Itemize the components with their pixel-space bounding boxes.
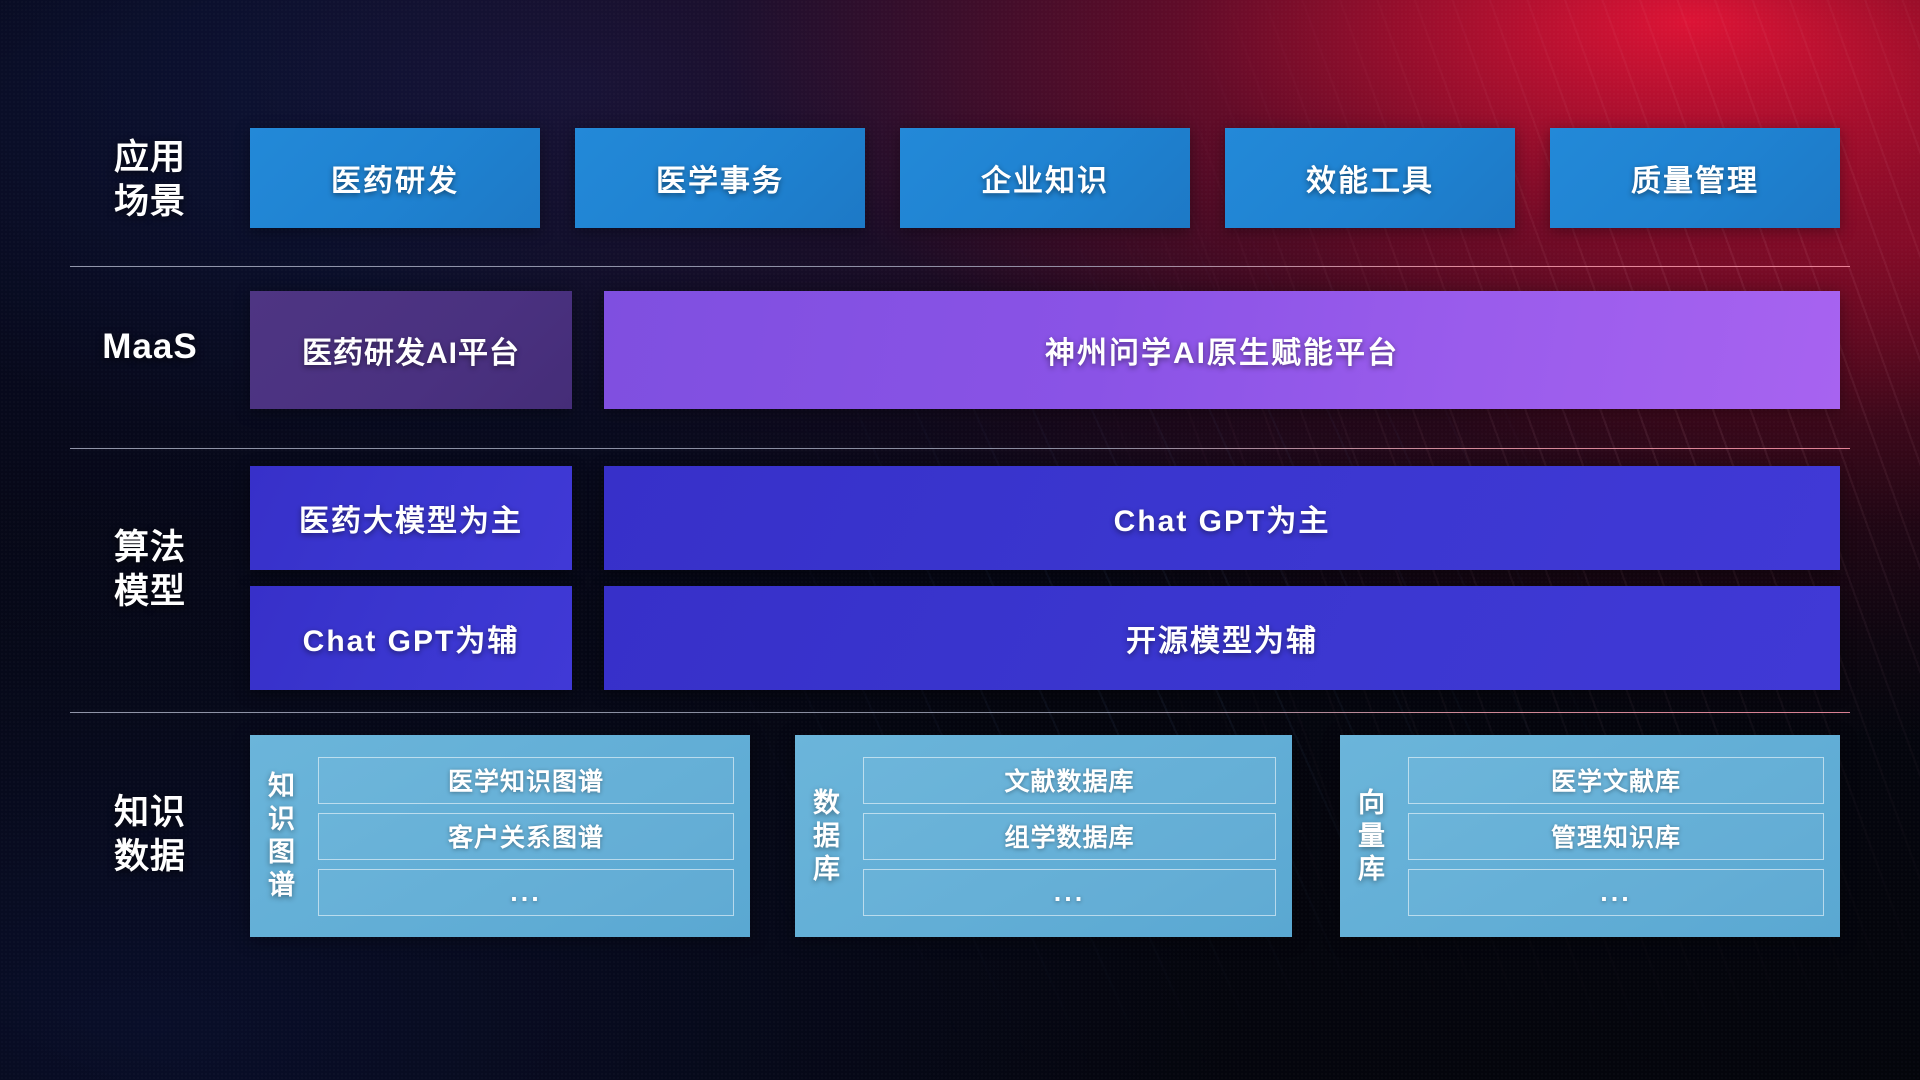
maas-platform-box-right[interactable]: 神州问学AI原生赋能平台 bbox=[604, 291, 1840, 409]
row-label-application-scenarios: 应用 场景 bbox=[90, 136, 210, 224]
app-box-1-label: 医药研发 bbox=[331, 156, 459, 200]
knowledge-panel-vector-title: 向量库 bbox=[1340, 735, 1404, 937]
algorithm-secondary-right-label: 开源模型为辅 bbox=[1126, 616, 1318, 660]
row-label-knowledge-data: 知识 数据 bbox=[90, 791, 210, 879]
app-box-2[interactable]: 医学事务 bbox=[575, 128, 865, 228]
app-box-4[interactable]: 效能工具 bbox=[1225, 128, 1515, 228]
algorithm-primary-left-label: 医药大模型为主 bbox=[299, 496, 523, 540]
divider-1 bbox=[70, 266, 1850, 267]
architecture-diagram: 应用 场景 医药研发 医学事务 企业知识 效能工具 质量管理 MaaS 医药研发… bbox=[0, 0, 1920, 1080]
algorithm-secondary-right-box[interactable]: 开源模型为辅 bbox=[604, 586, 1840, 690]
knowledge-panel-graph-items: 医学知识图谱 客户关系图谱 ... bbox=[314, 735, 750, 937]
row-label-line-1: 知识 bbox=[90, 791, 210, 835]
row-label-line-2: 模型 bbox=[90, 570, 210, 614]
knowledge-panel-graph[interactable]: 知识图谱 医学知识图谱 客户关系图谱 ... bbox=[250, 735, 750, 937]
knowledge-item-vector-3[interactable]: ... bbox=[1408, 869, 1824, 916]
knowledge-panel-database-title: 数据库 bbox=[795, 735, 859, 937]
algorithm-primary-left-box[interactable]: 医药大模型为主 bbox=[250, 466, 572, 570]
row-algorithm-model: 算法 模型 医药大模型为主 Chat GPT为主 Chat GPT为辅 开源模型… bbox=[0, 466, 1920, 690]
app-box-3-label: 企业知识 bbox=[981, 156, 1109, 200]
knowledge-item-database-2[interactable]: 组学数据库 bbox=[863, 813, 1276, 860]
row-label-algorithm-model: 算法 模型 bbox=[90, 526, 210, 614]
row-label-line-1: 应用 bbox=[90, 136, 210, 180]
row-application-scenarios: 应用 场景 医药研发 医学事务 企业知识 效能工具 质量管理 bbox=[0, 128, 1920, 228]
row-label-maas: MaaS bbox=[90, 325, 210, 369]
knowledge-item-graph-1[interactable]: 医学知识图谱 bbox=[318, 757, 734, 804]
app-box-5[interactable]: 质量管理 bbox=[1550, 128, 1840, 228]
algorithm-secondary-left-box[interactable]: Chat GPT为辅 bbox=[250, 586, 572, 690]
row-maas: MaaS 医药研发AI平台 神州问学AI原生赋能平台 bbox=[0, 291, 1920, 409]
knowledge-panel-vector[interactable]: 向量库 医学文献库 管理知识库 ... bbox=[1340, 735, 1840, 937]
app-box-2-label: 医学事务 bbox=[656, 156, 784, 200]
knowledge-item-vector-2[interactable]: 管理知识库 bbox=[1408, 813, 1824, 860]
knowledge-item-graph-3[interactable]: ... bbox=[318, 869, 734, 916]
knowledge-item-database-3[interactable]: ... bbox=[863, 869, 1276, 916]
maas-platform-box-left[interactable]: 医药研发AI平台 bbox=[250, 291, 572, 409]
app-box-4-label: 效能工具 bbox=[1306, 156, 1434, 200]
divider-2 bbox=[70, 448, 1850, 449]
row-label-line-1: 算法 bbox=[90, 526, 210, 570]
knowledge-panel-graph-title: 知识图谱 bbox=[250, 735, 314, 937]
maas-platform-left-label: 医药研发AI平台 bbox=[302, 328, 520, 372]
knowledge-panel-database[interactable]: 数据库 文献数据库 组学数据库 ... bbox=[795, 735, 1292, 937]
row-label-line-2: 数据 bbox=[90, 835, 210, 879]
row-label-maas-text: MaaS bbox=[90, 325, 210, 369]
app-box-3[interactable]: 企业知识 bbox=[900, 128, 1190, 228]
knowledge-panel-database-items: 文献数据库 组学数据库 ... bbox=[859, 735, 1292, 937]
knowledge-item-graph-2[interactable]: 客户关系图谱 bbox=[318, 813, 734, 860]
row-knowledge-data: 知识 数据 知识图谱 医学知识图谱 客户关系图谱 ... 数据库 文献数据库 组… bbox=[0, 735, 1920, 937]
divider-3 bbox=[70, 712, 1850, 713]
algorithm-primary-right-box[interactable]: Chat GPT为主 bbox=[604, 466, 1840, 570]
app-box-1[interactable]: 医药研发 bbox=[250, 128, 540, 228]
algorithm-secondary-left-label: Chat GPT为辅 bbox=[303, 616, 520, 660]
row-label-line-2: 场景 bbox=[90, 180, 210, 224]
algorithm-primary-right-label: Chat GPT为主 bbox=[1114, 496, 1331, 540]
knowledge-panel-vector-items: 医学文献库 管理知识库 ... bbox=[1404, 735, 1840, 937]
maas-platform-right-label: 神州问学AI原生赋能平台 bbox=[1045, 328, 1399, 372]
knowledge-item-database-1[interactable]: 文献数据库 bbox=[863, 757, 1276, 804]
knowledge-item-vector-1[interactable]: 医学文献库 bbox=[1408, 757, 1824, 804]
app-box-5-label: 质量管理 bbox=[1631, 156, 1759, 200]
